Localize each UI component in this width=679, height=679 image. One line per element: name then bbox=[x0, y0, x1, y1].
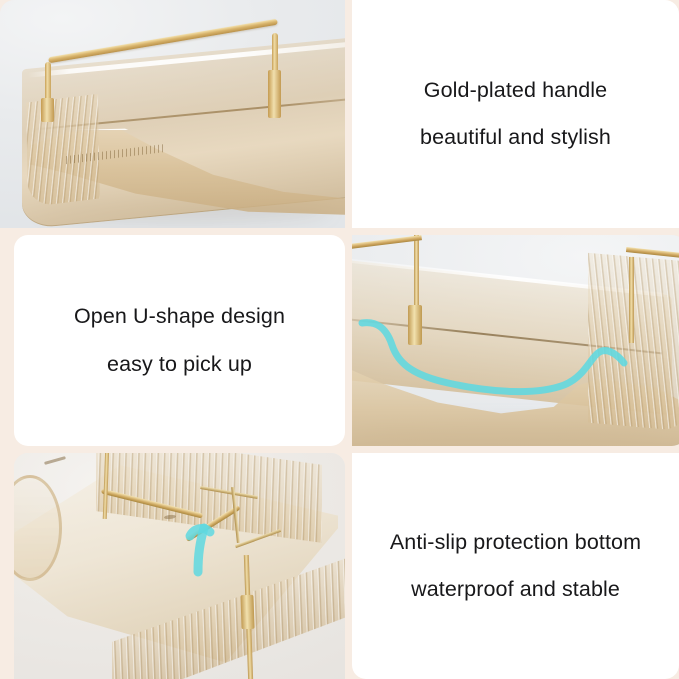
gold-handle-post-right bbox=[272, 33, 278, 75]
bracket-arm-a bbox=[200, 486, 258, 499]
photo-stage bbox=[14, 453, 345, 679]
caption-card-anti-slip: Anti-slip protection bottom waterproof a… bbox=[352, 453, 679, 679]
caption-card-u-shape: Open U-shape design easy to pick up bbox=[14, 235, 345, 446]
caption-card-handle: Gold-plated handle beautiful and stylish bbox=[352, 0, 679, 228]
product-photo-u-shape bbox=[352, 235, 679, 446]
gold-handle-post-right bbox=[629, 257, 634, 343]
caption-line-1: Gold-plated handle bbox=[424, 80, 608, 102]
product-photo-anti-slip-bottom bbox=[14, 453, 345, 679]
caption-line-2: beautiful and stylish bbox=[420, 127, 611, 149]
photo-stage bbox=[0, 0, 345, 228]
caption-line-2: easy to pick up bbox=[107, 354, 252, 376]
caption-line-1: Open U-shape design bbox=[74, 306, 285, 328]
product-feature-infographic: Gold-plated handle beautiful and stylish… bbox=[0, 0, 679, 679]
photo-stage bbox=[352, 235, 679, 446]
gold-handle-ferrule-left bbox=[408, 305, 422, 345]
caption-line-2: waterproof and stable bbox=[411, 579, 620, 601]
gold-handle-ferrule-left bbox=[41, 98, 54, 122]
caption-line-1: Anti-slip protection bottom bbox=[390, 532, 641, 554]
gold-bracket-secondary bbox=[200, 483, 318, 549]
gold-handle-ferrule bbox=[240, 595, 254, 629]
bracket-arm-c bbox=[235, 529, 281, 548]
product-photo-handle bbox=[0, 0, 345, 228]
tray-ribbed-wall bbox=[26, 94, 100, 208]
gold-handle-ferrule-right bbox=[268, 70, 281, 118]
